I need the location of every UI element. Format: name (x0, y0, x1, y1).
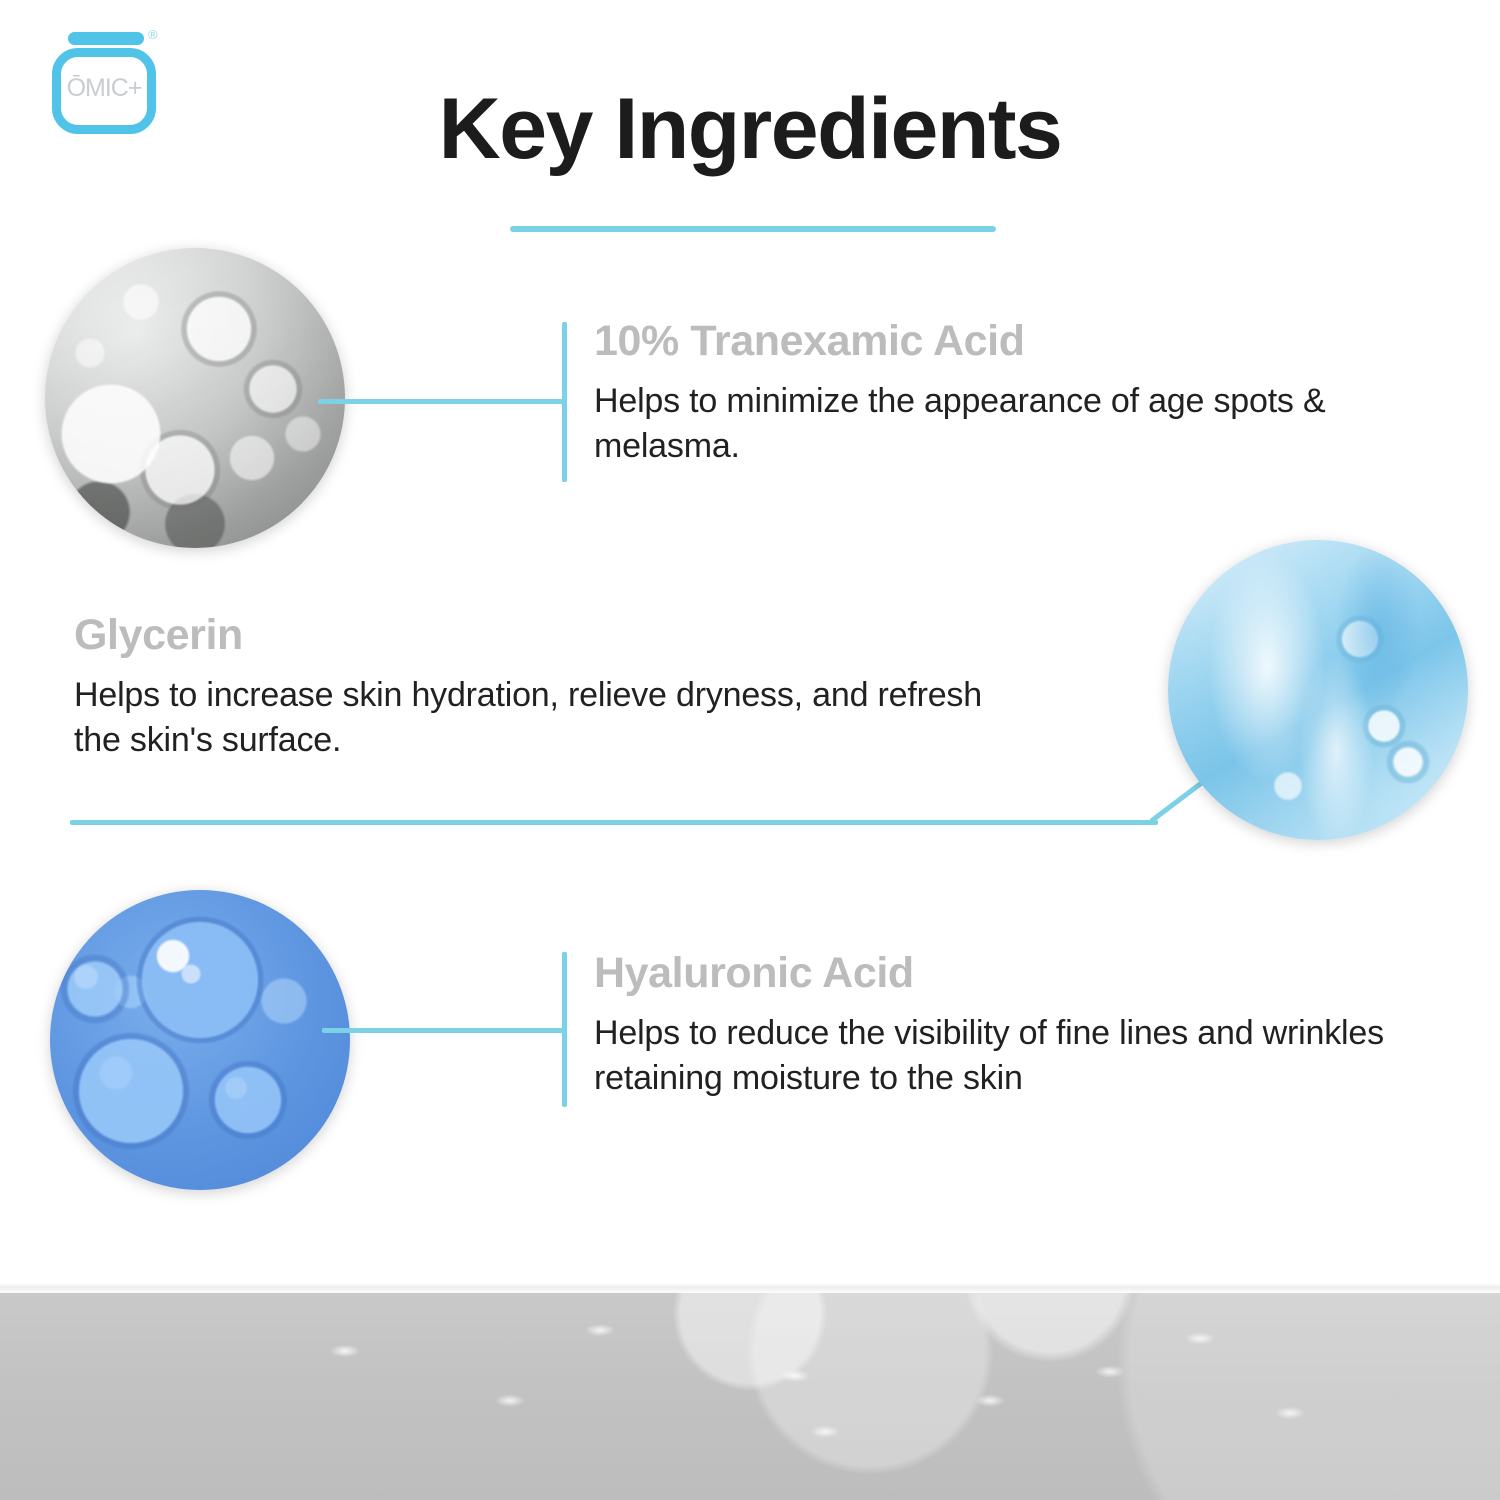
bottom-texture-band (0, 1293, 1500, 1500)
page-title: Key Ingredients (0, 86, 1500, 172)
connector-line-glycerin-horizontal (70, 820, 1158, 825)
bottom-divider (0, 1283, 1500, 1293)
ingredient-name-tranexamic-acid: 10% Tranexamic Acid (594, 318, 1354, 365)
key-ingredients-infographic: ® ŌMIC+ Key Ingredients 10% Tranexamic A… (0, 0, 1500, 1500)
registered-trademark-icon: ® (148, 28, 158, 41)
logo-top-bar (68, 32, 144, 45)
light-blue-gel-texture (1168, 540, 1468, 840)
clear-gel-bubbles-texture (45, 248, 345, 548)
ingredient-description-glycerin: Helps to increase skin hydration, reliev… (74, 673, 1034, 763)
title-underline (510, 226, 996, 232)
ingredient-description-tranexamic-acid: Helps to minimize the appearance of age … (594, 379, 1354, 469)
ingredient-image-tranexamic-acid (45, 248, 345, 548)
ingredient-description-hyaluronic-acid: Helps to reduce the visibility of fine l… (594, 1011, 1494, 1101)
ingredient-name-glycerin: Glycerin (74, 612, 1034, 659)
bottom-bubble-texture (0, 1293, 1500, 1500)
ingredient-block-hyaluronic-acid: Hyaluronic Acid Helps to reduce the visi… (594, 950, 1494, 1101)
connector-line-hyaluronic-horizontal (322, 1028, 566, 1033)
ingredient-image-hyaluronic-acid (50, 890, 350, 1190)
blue-bubble-spheres-texture (50, 890, 350, 1190)
ingredient-image-glycerin (1168, 540, 1468, 840)
ingredient-name-hyaluronic-acid: Hyaluronic Acid (594, 950, 1494, 997)
connector-line-tranexamic-horizontal (318, 399, 566, 404)
ingredient-block-tranexamic-acid: 10% Tranexamic Acid Helps to minimize th… (594, 318, 1354, 469)
ingredient-block-glycerin: Glycerin Helps to increase skin hydratio… (74, 612, 1034, 763)
